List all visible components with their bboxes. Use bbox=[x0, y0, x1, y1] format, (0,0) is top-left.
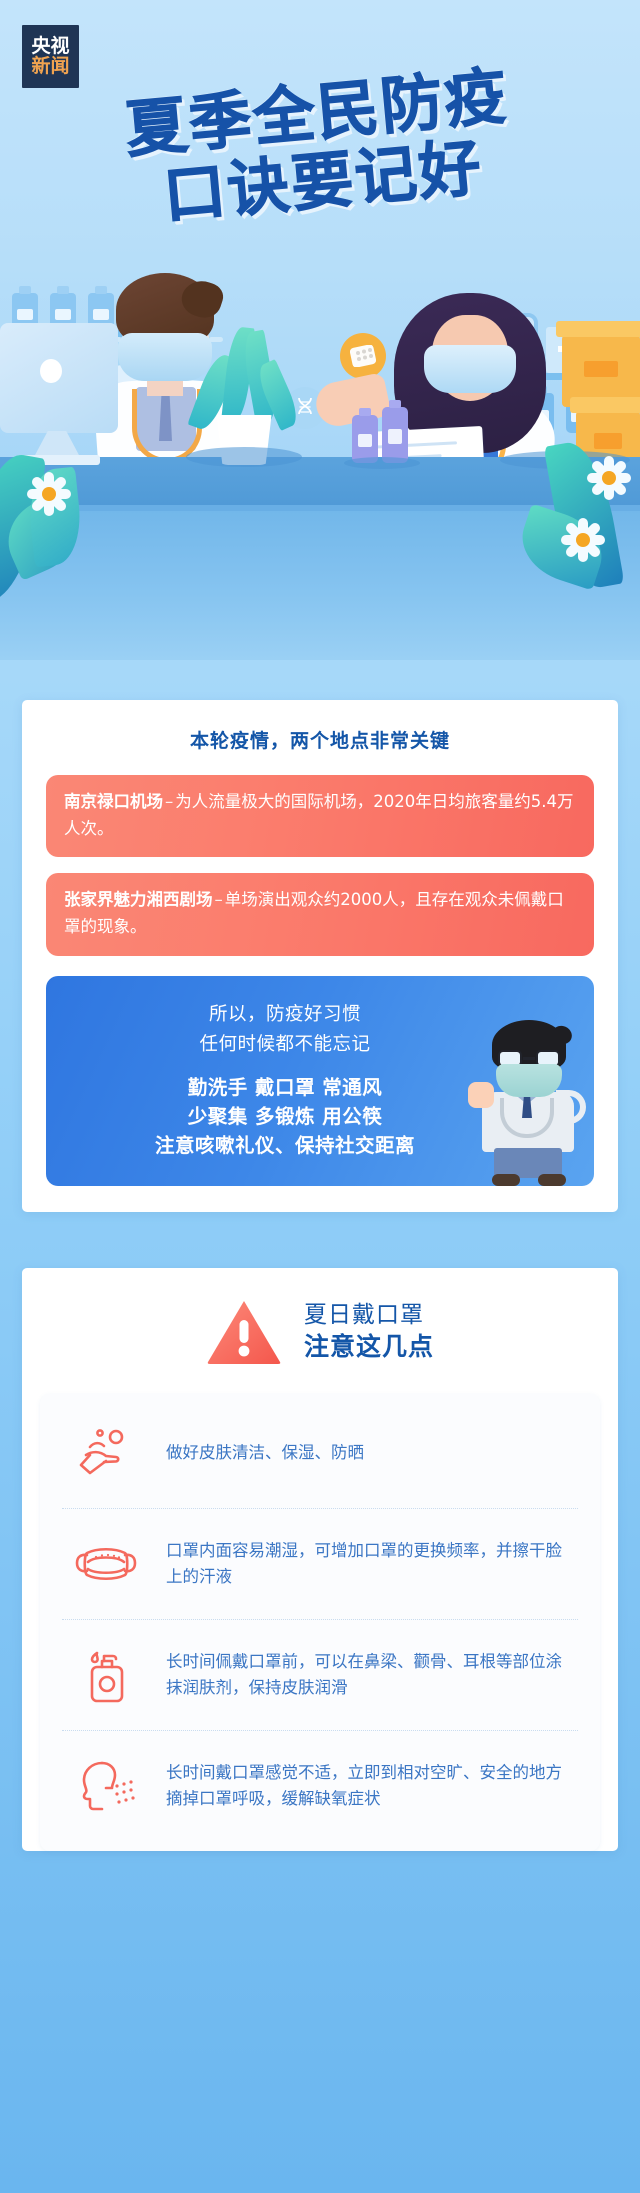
logo-char-accent: 新闻 bbox=[31, 57, 69, 76]
fact-box-theatre: 张家界魅力湘西剧场–单场演出观众约2000人，且存在观众未佩戴口罩的现象。 bbox=[46, 873, 594, 955]
fact-dash: – bbox=[163, 792, 175, 811]
slogan-lead-line: 任何时候都不能忘记 bbox=[66, 1030, 504, 1060]
plant-shadow bbox=[186, 447, 302, 467]
tips-list: 做好皮肤清洁、保湿、防晒 口罩内面容易潮湿，可增加口罩的更换频率，并擦干脸上的汗… bbox=[40, 1394, 600, 1851]
counter-bottle bbox=[352, 415, 378, 463]
warning-triangle-icon bbox=[206, 1298, 282, 1366]
decor-daisy bbox=[560, 517, 606, 563]
hero-banner: 央视 新闻 夏季全民防疫 口诀要记好 bbox=[0, 0, 640, 660]
card-summer-mask-tips: 夏日戴口罩 注意这几点 做好皮肤清洁、保湿、防晒 bbox=[22, 1268, 618, 1851]
decor-daisy bbox=[26, 471, 72, 517]
logo-char: 央视 bbox=[31, 37, 69, 56]
fact-name: 南京禄口机场 bbox=[64, 792, 163, 811]
desktop-monitor bbox=[0, 323, 118, 433]
list-item-text: 口罩内面容易潮湿，可增加口罩的更换频率，并擦干脸上的汗液 bbox=[166, 1538, 572, 1591]
slogan-lead-line: 所以，防疫好习惯 bbox=[66, 1000, 504, 1030]
list-item: 长时间佩戴口罩前，可以在鼻梁、颧骨、耳根等部位涂抹润肤剂，保持皮肤润滑 bbox=[62, 1620, 578, 1731]
list-item: 口罩内面容易潮湿，可增加口罩的更换频率，并擦干脸上的汗液 bbox=[62, 1509, 578, 1620]
pharmacy-illustration bbox=[0, 215, 640, 660]
decor-daisy bbox=[586, 455, 632, 501]
bottle-shadow bbox=[344, 457, 420, 469]
list-item-text: 长时间佩戴口罩前，可以在鼻梁、颧骨、耳根等部位涂抹润肤剂，保持皮肤润滑 bbox=[166, 1649, 572, 1702]
cctv-news-logo: 央视 新闻 bbox=[22, 25, 79, 88]
slogan-box: 所以，防疫好习惯 任何时候都不能忘记 勤洗手 戴口罩 常通风 少聚集 多锻炼 用… bbox=[46, 976, 594, 1187]
breathing-head-icon bbox=[72, 1755, 140, 1817]
slogan-rule-line: 勤洗手 戴口罩 常通风 bbox=[66, 1074, 504, 1103]
fact-dash: – bbox=[213, 890, 225, 909]
list-item: 长时间戴口罩感觉不适，立即到相对空旷、安全的地方摘掉口罩呼吸，缓解缺氧症状 bbox=[62, 1731, 578, 1841]
list-item-text: 长时间戴口罩感觉不适，立即到相对空旷、安全的地方摘掉口罩呼吸，缓解缺氧症状 bbox=[166, 1760, 572, 1813]
lotion-pump-bottle-icon bbox=[72, 1644, 140, 1706]
card-key-locations: 本轮疫情，两个地点非常关键 南京禄口机场–为人流量极大的国际机场，2020年日均… bbox=[22, 700, 618, 1212]
face-mask-icon bbox=[72, 1533, 140, 1595]
spacer bbox=[0, 660, 640, 700]
tips-title: 夏日戴口罩 注意这几点 bbox=[304, 1301, 434, 1363]
tips-title-line-2: 注意这几点 bbox=[304, 1331, 434, 1364]
counter-bottle bbox=[382, 407, 408, 463]
list-item-text: 做好皮肤清洁、保湿、防晒 bbox=[166, 1440, 364, 1467]
list-item: 做好皮肤清洁、保湿、防晒 bbox=[62, 1398, 578, 1509]
hand-washing-icon bbox=[72, 1422, 140, 1484]
fact-box-airport: 南京禄口机场–为人流量极大的国际机场，2020年日均旅客量约5.4万人次。 bbox=[46, 775, 594, 857]
fact-name: 张家界魅力湘西剧场 bbox=[64, 890, 213, 909]
mini-doctor-illustration bbox=[470, 1018, 588, 1186]
tips-header: 夏日戴口罩 注意这几点 bbox=[22, 1268, 618, 1394]
potted-plant bbox=[192, 325, 296, 461]
card-heading: 本轮疫情，两个地点非常关键 bbox=[46, 726, 594, 753]
spacer bbox=[0, 1212, 640, 1268]
slogan-rule-line: 注意咳嗽礼仪、保持社交距离 bbox=[66, 1132, 504, 1161]
slogan-rule-line: 少聚集 多锻炼 用公筷 bbox=[66, 1103, 504, 1132]
logo-line-1: 央视 bbox=[31, 37, 69, 56]
pill-blister-icon bbox=[340, 333, 386, 379]
tips-title-line-1: 夏日戴口罩 bbox=[304, 1301, 434, 1331]
logo-line-2: 新闻 bbox=[31, 57, 69, 76]
